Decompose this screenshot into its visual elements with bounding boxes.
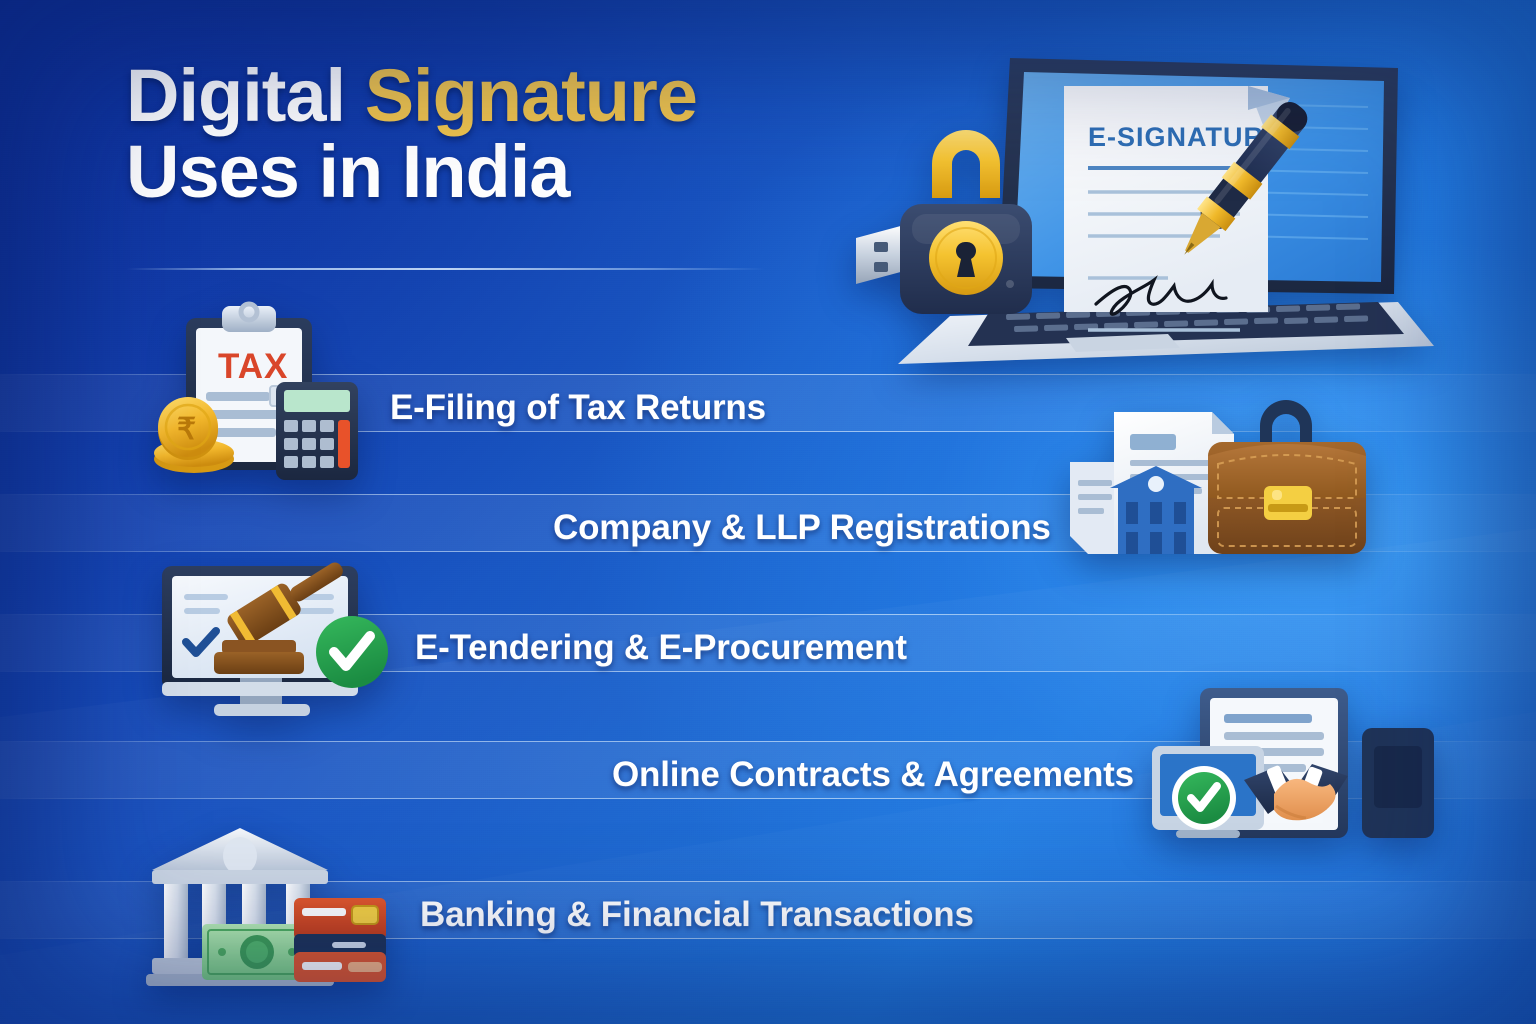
svg-text:TAX: TAX	[218, 347, 288, 386]
monitor-gavel-check-icon	[156, 560, 406, 730]
title-line-2: Uses in India	[126, 134, 886, 210]
title-word-signature: Signature	[365, 54, 697, 137]
row-label-banking: Banking & Financial Transactions	[420, 895, 974, 935]
row-label-online-contracts: Online Contracts & Agreements	[612, 755, 1134, 795]
row-label-company-llp: Company & LLP Registrations	[553, 508, 1051, 548]
tax-clipboard-calculator-icon: TAX ₹	[148, 296, 380, 486]
page-title: Digital Signature Uses in India	[126, 58, 886, 210]
svg-text:₹: ₹	[177, 413, 196, 446]
infographic-canvas: Digital Signature Uses in India	[0, 0, 1536, 1024]
row-label-e-tendering: E-Tendering & E-Procurement	[415, 628, 907, 668]
laptop-esignature-illustration: E-SIGNATURE	[838, 46, 1438, 386]
title-word-digital: Digital	[126, 54, 365, 137]
bank-money-cards-icon	[146, 826, 414, 996]
contract-handshake-check-icon	[1148, 684, 1440, 854]
title-line-1: Digital Signature	[126, 58, 886, 134]
title-underline	[126, 268, 766, 270]
esignature-document: E-SIGNATURE	[1064, 86, 1290, 330]
documents-briefcase-icon	[1068, 404, 1368, 574]
row-label-e-filing: E-Filing of Tax Returns	[390, 388, 766, 428]
